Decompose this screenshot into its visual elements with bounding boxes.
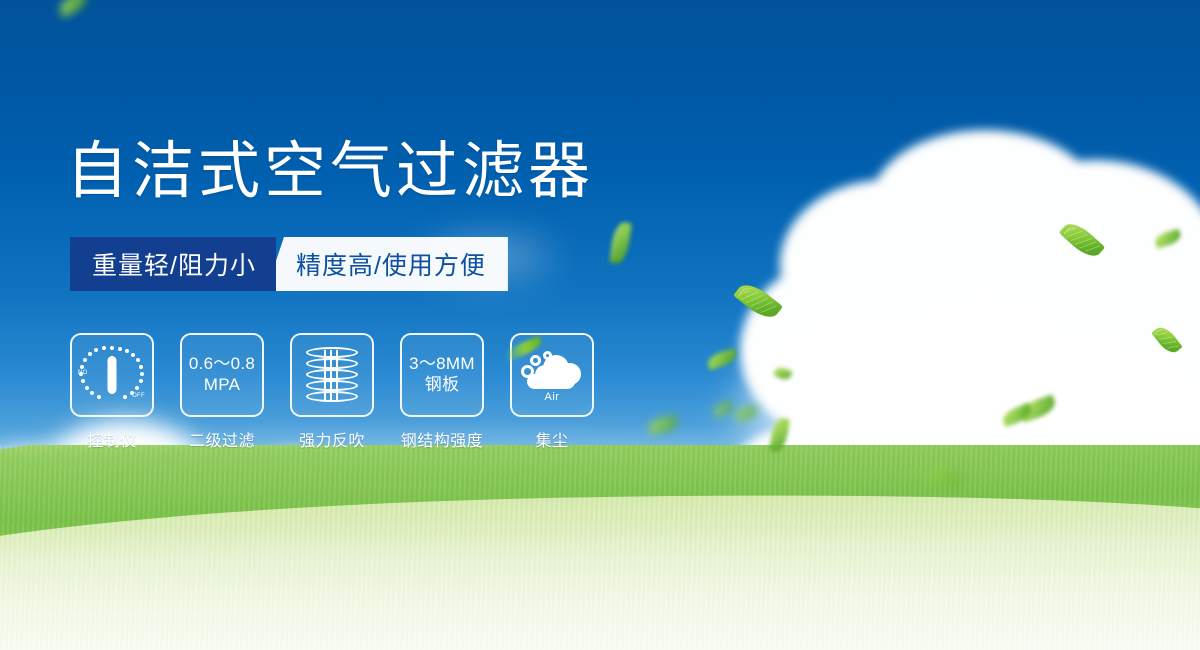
banner-content: 自洁式空气过滤器 重量轻/阻力小 精度高/使用方便 — [0, 0, 1200, 650]
feature-caption: 二级过滤 — [189, 427, 255, 451]
feature-item-controller[interactable]: NO OFF 控制仪 — [70, 333, 154, 451]
cloud-base — [527, 374, 575, 389]
pressure-range-text: 0.6～0.8 — [189, 354, 255, 375]
feature-item-steel-strength[interactable]: 3～8MM 钢板 钢结构强度 — [400, 333, 484, 451]
feature-caption: 控制仪 — [87, 427, 137, 451]
feature-list: NO OFF 控制仪 0.6～0.8 MPA 二级过滤 — [70, 333, 594, 451]
steel-thickness-text: 3～8MM — [409, 354, 475, 375]
page-title: 自洁式空气过滤器 — [66, 140, 594, 202]
gauge-label-off: OFF — [132, 393, 145, 399]
gauge-label-no: NO — [78, 370, 88, 376]
feature-item-back-blow[interactable]: 强力反吹 — [290, 333, 374, 451]
feature-icon-box: NO OFF — [70, 333, 154, 417]
gauge-needle — [108, 356, 117, 394]
tagline-primary: 重量轻/阻力小 — [70, 237, 276, 291]
feature-icon-box: 0.6～0.8 MPA — [180, 333, 264, 417]
feature-caption: 强力反吹 — [299, 427, 365, 451]
filter-coil-icon — [306, 347, 358, 403]
feature-item-dust-collection[interactable]: Air 集尘 — [510, 333, 594, 451]
feature-icon-box — [290, 333, 374, 417]
tagline-secondary: 精度高/使用方便 — [266, 237, 508, 291]
feature-caption: 集尘 — [535, 427, 568, 451]
feature-icon-box: Air — [510, 333, 594, 417]
gauge-dial-icon: NO OFF — [79, 344, 145, 406]
feature-item-two-stage-filter[interactable]: 0.6～0.8 MPA 二级过滤 — [180, 333, 264, 451]
dust-cloud-air-icon: Air — [521, 349, 583, 401]
feature-caption: 钢结构强度 — [401, 427, 484, 451]
feature-icon-box: 3～8MM 钢板 — [400, 333, 484, 417]
tagline-bar: 重量轻/阻力小 精度高/使用方便 — [70, 237, 508, 291]
air-label: Air — [521, 391, 583, 403]
pressure-unit-text: MPA — [204, 375, 240, 396]
banner-stage: 自洁式空气过滤器 重量轻/阻力小 精度高/使用方便 — [0, 0, 1200, 650]
steel-plate-text: 钢板 — [425, 375, 460, 396]
